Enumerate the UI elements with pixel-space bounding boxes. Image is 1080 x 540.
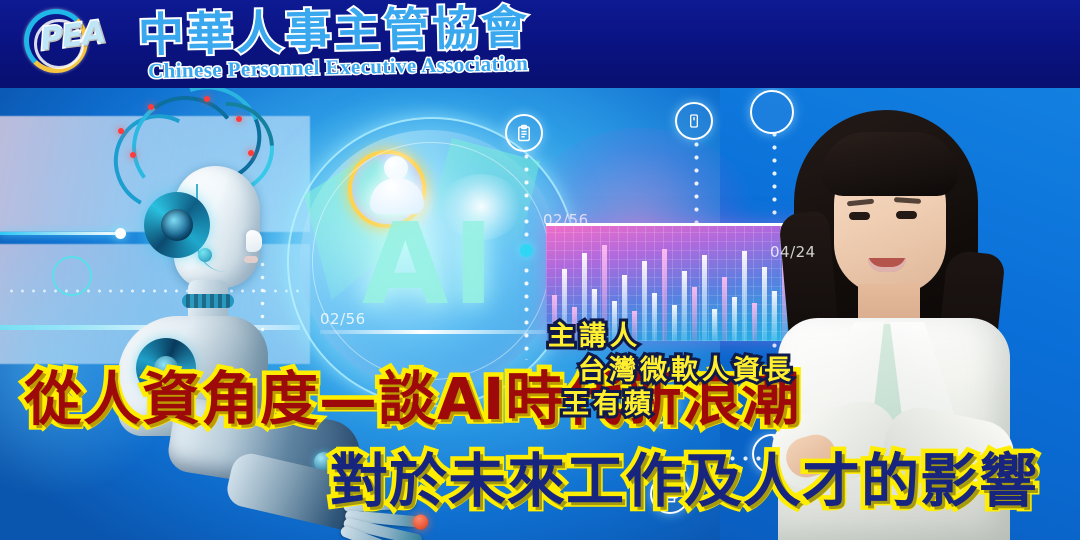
header-titles: 中華人事主管協會 Chinese Personnel Executive Ass… xyxy=(138,4,530,79)
headline-line-2: 對於未來工作及人才的影響 xyxy=(330,452,1038,510)
cpea-logo-icon[interactable]: PEA xyxy=(22,4,134,78)
speaker-role-label: 主講人 xyxy=(548,320,795,354)
connector-line xyxy=(524,264,529,360)
presenter-eye xyxy=(849,212,870,220)
presenter-eye xyxy=(896,211,917,219)
speaker-info-block: 主講人 台灣微軟人資長 王有蘋 xyxy=(548,320,795,422)
speaker-name: 王有蘋 xyxy=(562,388,795,422)
code-label-c: 04/24 xyxy=(770,243,816,261)
logo-pea-text: PEA xyxy=(38,14,107,58)
presenter-fringe xyxy=(822,132,958,196)
site-header: PEA 中華人事主管協會 Chinese Personnel Executive… xyxy=(0,0,1080,88)
network-node-dot xyxy=(520,244,533,257)
header-logo-group[interactable]: PEA 中華人事主管協會 Chinese Personnel Executive… xyxy=(22,4,530,79)
connector-line xyxy=(524,150,529,242)
clipboard-icon[interactable] xyxy=(505,114,543,152)
seminar-banner: PEA 中華人事主管協會 Chinese Personnel Executive… xyxy=(0,0,1080,540)
document-icon[interactable] xyxy=(675,102,713,140)
speaker-title: 台灣微軟人資長 xyxy=(578,354,795,388)
